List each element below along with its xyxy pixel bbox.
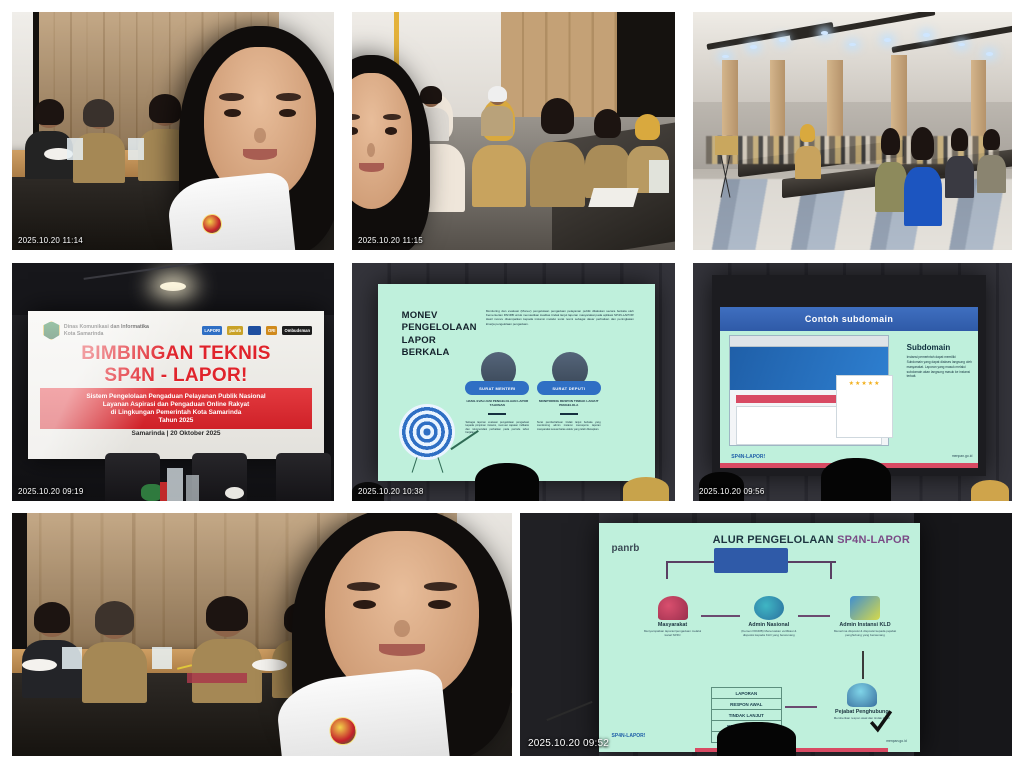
- water-glass: [67, 138, 83, 159]
- dark-wall: [617, 12, 675, 117]
- projection-screen-frame: Contoh subdomain ★★★★★ Subdomain Instans…: [712, 275, 986, 476]
- water-glass: [649, 160, 668, 193]
- attendee: [977, 131, 1006, 193]
- check-mark-icon: [868, 708, 894, 734]
- audience-silhouette: [717, 722, 796, 756]
- selfie-subject: [179, 26, 334, 250]
- right-caption: MONITORING RESPON TINDAK LANJUT PENGELOL…: [537, 399, 601, 407]
- slide-title: MONEV PENGELOLAAN LAPOR BERKALA: [402, 310, 479, 359]
- uniform-badge-icon: [201, 213, 223, 235]
- panel-alur-pengelolaan-slide[interactable]: ALUR PENGELOLAAN SP4N-LAPOR panrb Masyar…: [520, 513, 1012, 756]
- panel-selfie-meeting-room-top-left[interactable]: 2025.10.20 11:14: [12, 12, 334, 250]
- attendee: [945, 131, 974, 198]
- node-admin-nasional: Admin Nasional (Kemen PANRB) Meneruskan …: [740, 596, 798, 637]
- panrb-brand-logo: panrb: [612, 543, 640, 554]
- attendee-khaki: [585, 112, 630, 198]
- flow-arrow-down: [862, 651, 864, 679]
- stage-chair: [276, 453, 331, 501]
- laptop-icon: [850, 596, 880, 620]
- banner-backdrop: Dinas Komunikasi dan Informatika Kota Sa…: [28, 311, 324, 460]
- step-item: TINDAK LANJUT: [711, 710, 782, 721]
- attendee-row-background: [352, 12, 675, 250]
- bowl: [225, 487, 244, 499]
- panel-event-banner-stage[interactable]: Dinas Komunikasi dan Informatika Kota Sa…: [12, 263, 334, 501]
- surat-deputi-button: SURAT DEPUTI: [537, 381, 601, 395]
- right-body-text: Surat pemberitahuan tindak lanjut berkal…: [537, 421, 601, 468]
- browser-chrome: [730, 336, 889, 347]
- marker-pen: [160, 482, 166, 501]
- projection-screen-frame: ALUR PENGELOLAAN SP4N-LAPOR panrb Masyar…: [599, 523, 920, 753]
- meeting-room-background: [12, 12, 334, 250]
- attendee-blue-uniform: [904, 131, 942, 226]
- uniform-badge-icon: [328, 716, 358, 746]
- slide-inner: MONEV PENGELOLAAN LAPOR BERKALA Monitori…: [389, 292, 644, 473]
- top-info-box: [714, 548, 788, 573]
- panel-monev-slide[interactable]: MONEV PENGELOLAAN LAPOR BERKALA Monitori…: [352, 263, 675, 501]
- attendee-thumbs-up: [192, 601, 262, 703]
- slide-title: ALUR PENGELOLAAN SP4N-LAPOR: [713, 534, 910, 546]
- water-glass: [128, 138, 144, 159]
- timestamp-overlay: 2025.10.20 11:14: [18, 236, 83, 245]
- idea-bulb-icon: [847, 683, 877, 707]
- projected-slide: Contoh subdomain ★★★★★ Subdomain Instans…: [712, 275, 986, 476]
- attendee-hijab-yellow: [795, 126, 821, 178]
- slide-header: Contoh subdomain: [720, 307, 978, 331]
- photo-collage: 2025.10.20 11:14: [0, 0, 1024, 768]
- stage-spotlight: [160, 282, 186, 291]
- audience-silhouette: [821, 458, 891, 501]
- banner-glare: [28, 311, 324, 460]
- stage-room: Dinas Komunikasi dan Informatika Kota Sa…: [12, 263, 334, 501]
- step-item: LAPORAN: [711, 687, 782, 699]
- attendee-back-row: [481, 88, 513, 136]
- projection-screen-frame: MONEV PENGELOLAAN LAPOR BERKALA Monitori…: [378, 284, 655, 480]
- slide-paragraph: Monitoring dan evaluasi (Monev) pengelol…: [486, 309, 634, 345]
- target-dartboard-icon: [399, 404, 455, 460]
- projected-slide: MONEV PENGELOLAAN LAPOR BERKALA Monitori…: [378, 284, 655, 480]
- panel-selfie-meeting-room-bottom-left[interactable]: [12, 513, 512, 756]
- star-rating-icon: ★★★★★: [837, 376, 892, 387]
- rating-card: ★★★★★: [836, 375, 893, 437]
- audience-silhouette: [475, 463, 540, 501]
- gov-url-text: menpan.go.id: [952, 454, 973, 458]
- panel-conference-hall-wide[interactable]: [693, 12, 1012, 250]
- water-glass: [152, 647, 172, 669]
- audience-hijab-silhouette: [971, 480, 1009, 501]
- subdomain-heading: Subdomain: [907, 343, 973, 352]
- people-icon: [658, 596, 688, 620]
- projection-room: MONEV PENGELOLAAN LAPOR BERKALA Monitori…: [352, 263, 675, 501]
- panel-contoh-subdomain-slide[interactable]: Contoh subdomain ★★★★★ Subdomain Instans…: [693, 263, 1012, 501]
- selfie-subject: [352, 55, 430, 250]
- selfie-subject: [292, 513, 512, 756]
- attendee-khaki: [530, 102, 585, 207]
- panel-seated-attendees-row[interactable]: 2025.10.20 11:15: [352, 12, 675, 250]
- water-glass: [186, 475, 199, 501]
- projected-slide: ALUR PENGELOLAAN SP4N-LAPOR panrb Masyar…: [599, 523, 920, 753]
- projection-room: Contoh subdomain ★★★★★ Subdomain Instans…: [693, 263, 1012, 501]
- timestamp-overlay: 2025.10.20 10:38: [358, 487, 423, 496]
- audience-hijab-silhouette: [623, 477, 668, 501]
- timestamp-overlay: 2025.10.20 09:52: [528, 738, 609, 749]
- water-glass: [62, 647, 82, 669]
- timestamp-overlay: 2025.10.20 11:15: [358, 236, 423, 245]
- meeting-room-background: [12, 513, 512, 756]
- water-bottle: [167, 468, 183, 501]
- node-masyarakat: Masyarakat Menyampaikan laporan/pengadua…: [644, 596, 702, 637]
- left-body-text: Sebagai laporan evaluasi pengelolaan pen…: [465, 421, 529, 468]
- left-caption: HASIL EVALUASI PENGELOLAAN LAPOR TAHUNAN: [465, 399, 529, 407]
- attendee-standing: [875, 131, 907, 212]
- timestamp-overlay: 2025.10.20 09:56: [699, 487, 764, 496]
- paper-napkin: [588, 188, 639, 207]
- coffee-cup: [252, 659, 287, 671]
- event-banner: Dinas Komunikasi dan Informatika Kota Sa…: [28, 311, 324, 460]
- step-item: RESPON AWAL: [711, 699, 782, 710]
- timestamp-overlay: 2025.10.20 09:19: [18, 487, 83, 496]
- wall-right-panel: [914, 513, 1012, 756]
- subdomain-description: Subdomain Instansi pemerintah dapat memi…: [907, 343, 973, 379]
- wall-left-panel: [520, 513, 599, 756]
- conference-hall-background: [693, 12, 1012, 250]
- gov-url-text: menpan.go.id: [886, 739, 907, 743]
- subdomain-body: Instansi pemerintah dapat memiliki Subdo…: [907, 355, 973, 379]
- surat-menteri-button: SURAT MENTERI: [465, 381, 529, 395]
- coffee-cup: [22, 659, 57, 671]
- admin-icon: [754, 596, 784, 620]
- node-admin-instansi: Admin Instansi KLD Menerima disposisi & …: [830, 596, 901, 637]
- camera-on-tripod: [715, 136, 737, 155]
- projection-room: ALUR PENGELOLAAN SP4N-LAPOR panrb Masyar…: [520, 513, 1012, 756]
- attendee-glasses: [82, 605, 147, 702]
- lapor-logo: SP4N-LAPOR!: [612, 733, 646, 739]
- lapor-logo: SP4N-LAPOR!: [731, 454, 765, 460]
- red-folder: [187, 673, 247, 683]
